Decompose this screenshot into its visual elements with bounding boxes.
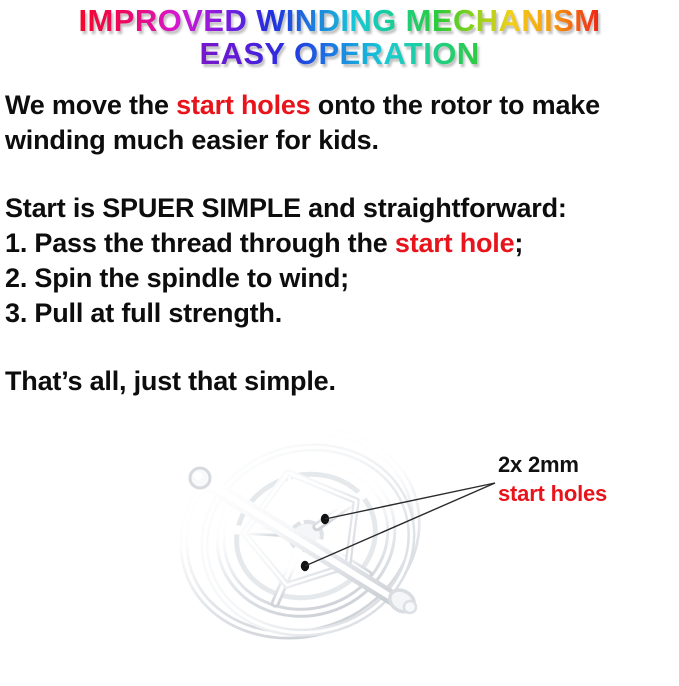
closing-line: That’s all, just that simple.: [5, 364, 677, 399]
title-line-1: IMPROVED WINDING MECHANISM: [79, 4, 601, 37]
spindle-knob-highlight: [194, 472, 202, 480]
step-3: 3. Pull at full strength.: [5, 296, 677, 331]
intro-line-1-after: onto the rotor to make: [311, 90, 600, 120]
intro-line-1: We move the start holes onto the rotor t…: [5, 88, 677, 123]
intro-highlight-start-holes: start holes: [176, 90, 310, 120]
callout-dimension: 2x 2mm: [498, 450, 673, 479]
step-1-after: ;: [514, 228, 523, 258]
intro-line-1-before: We move the: [5, 90, 176, 120]
steps-heading: Start is SPUER SIMPLE and straightforwar…: [5, 191, 677, 226]
step-1: 1. Pass the thread through the start hol…: [5, 226, 677, 261]
callout-leader-lines: [300, 465, 510, 585]
leader-line-lower: [305, 483, 495, 566]
step-1-before: 1. Pass the thread through the: [5, 228, 395, 258]
body-copy: We move the start holes onto the rotor t…: [5, 88, 677, 399]
spindle-bracket-pin: [404, 601, 416, 613]
paragraph-gap-1: [5, 158, 677, 191]
callout-block: 2x 2mm start holes: [498, 450, 673, 508]
paragraph-gap-2: [5, 331, 677, 364]
title-line-2: EASY OPERATION: [199, 37, 479, 70]
title-block: IMPROVED WINDING MECHANISM EASY OPERATIO…: [0, 4, 679, 70]
step-2: 2. Spin the spindle to wind;: [5, 261, 677, 296]
leader-line-upper: [325, 483, 495, 519]
callout-label-start-holes: start holes: [498, 479, 673, 508]
step-1-highlight-start-hole: start hole: [395, 228, 515, 258]
intro-line-2: winding much easier for kids.: [5, 123, 677, 158]
